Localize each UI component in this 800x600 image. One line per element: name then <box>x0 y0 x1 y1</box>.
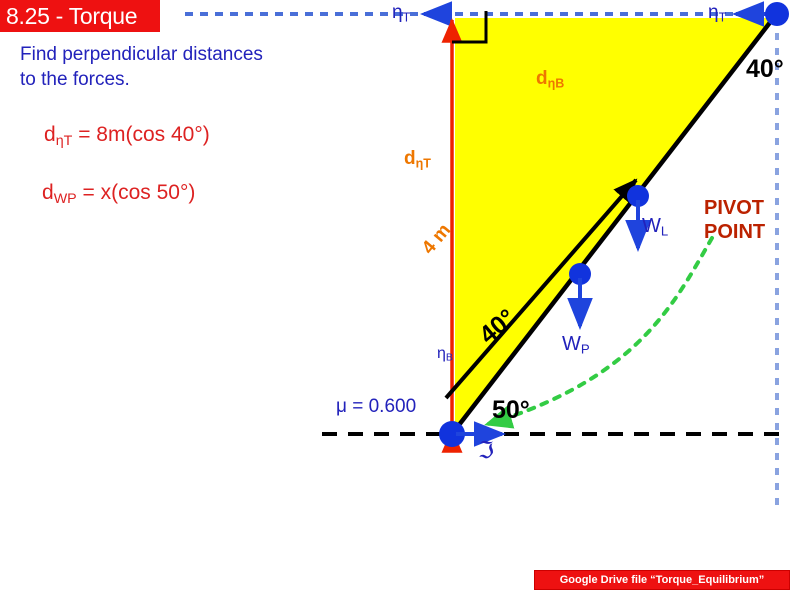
label-d-eta-t: dηT <box>404 148 431 170</box>
w-l-base: W <box>642 215 661 237</box>
w-p-base: W <box>562 333 581 355</box>
d-eta-t-base: d <box>404 148 416 169</box>
d-eta-b-sub: ηB <box>548 76 565 90</box>
d-eta-b-base: d <box>536 68 548 89</box>
d-eta-t-sub: ηT <box>416 156 431 170</box>
label-friction-force: ℑ <box>478 437 494 464</box>
label-eta-t-right: ηT <box>708 2 726 24</box>
eta-t-left-base: η <box>392 2 403 23</box>
label-angle-top-right: 40° <box>746 55 784 84</box>
label-friction-coefficient: μ = 0.600 <box>336 396 416 418</box>
instruction-line-1: Find perpendicular distances <box>20 42 310 67</box>
instruction-text: Find perpendicular distances to the forc… <box>20 42 310 92</box>
eq2-lhs-sub: WP <box>54 191 77 207</box>
label-angle-bottom: 50° <box>492 396 530 425</box>
eta-t-right-sub: T <box>719 10 727 24</box>
slide-title-banner: 8.25 - Torque <box>0 0 160 32</box>
label-pivot-point: PIVOT POINT <box>704 196 765 244</box>
page-title: 8.25 - Torque <box>6 3 137 30</box>
w-l-sub: L <box>661 223 668 238</box>
equation-d-wp: dWP = x(cos 50°) <box>42 181 195 207</box>
eta-t-right-base: η <box>708 2 719 23</box>
eq1-rhs: = 8m(cos 40°) <box>78 123 210 146</box>
label-weight-l: WL <box>642 215 668 238</box>
eq1-lhs-sub: ηT <box>56 133 73 149</box>
eq2-rhs: = x(cos 50°) <box>83 181 196 204</box>
w-p-sub: P <box>581 341 590 356</box>
label-weight-p: WP <box>562 333 590 356</box>
pivot-label-line-1: PIVOT <box>704 196 765 220</box>
equation-d-eta-t: dηT = 8m(cos 40°) <box>44 123 210 149</box>
pivot-label-line-2: POINT <box>704 220 765 244</box>
footer-source-banner: Google Drive file “Torque_Equilibrium” <box>534 570 790 590</box>
eta-t-left-sub: T <box>403 10 411 24</box>
top-attachment-dot <box>765 2 789 26</box>
eq2-lhs-base: d <box>42 181 54 204</box>
label-eta-t-left: ηT <box>392 2 410 24</box>
eq1-lhs-base: d <box>44 123 56 146</box>
label-eta-b: ηB <box>437 345 453 364</box>
eta-b-sub: B <box>446 352 453 364</box>
slide-canvas: 8.25 - Torque Find perpendicular distanc… <box>0 0 800 600</box>
instruction-line-2: to the forces. <box>20 67 310 92</box>
footer-source-text: Google Drive file “Torque_Equilibrium” <box>560 574 765 586</box>
eta-b-base: η <box>437 345 446 362</box>
label-d-eta-b: dηB <box>536 68 564 90</box>
